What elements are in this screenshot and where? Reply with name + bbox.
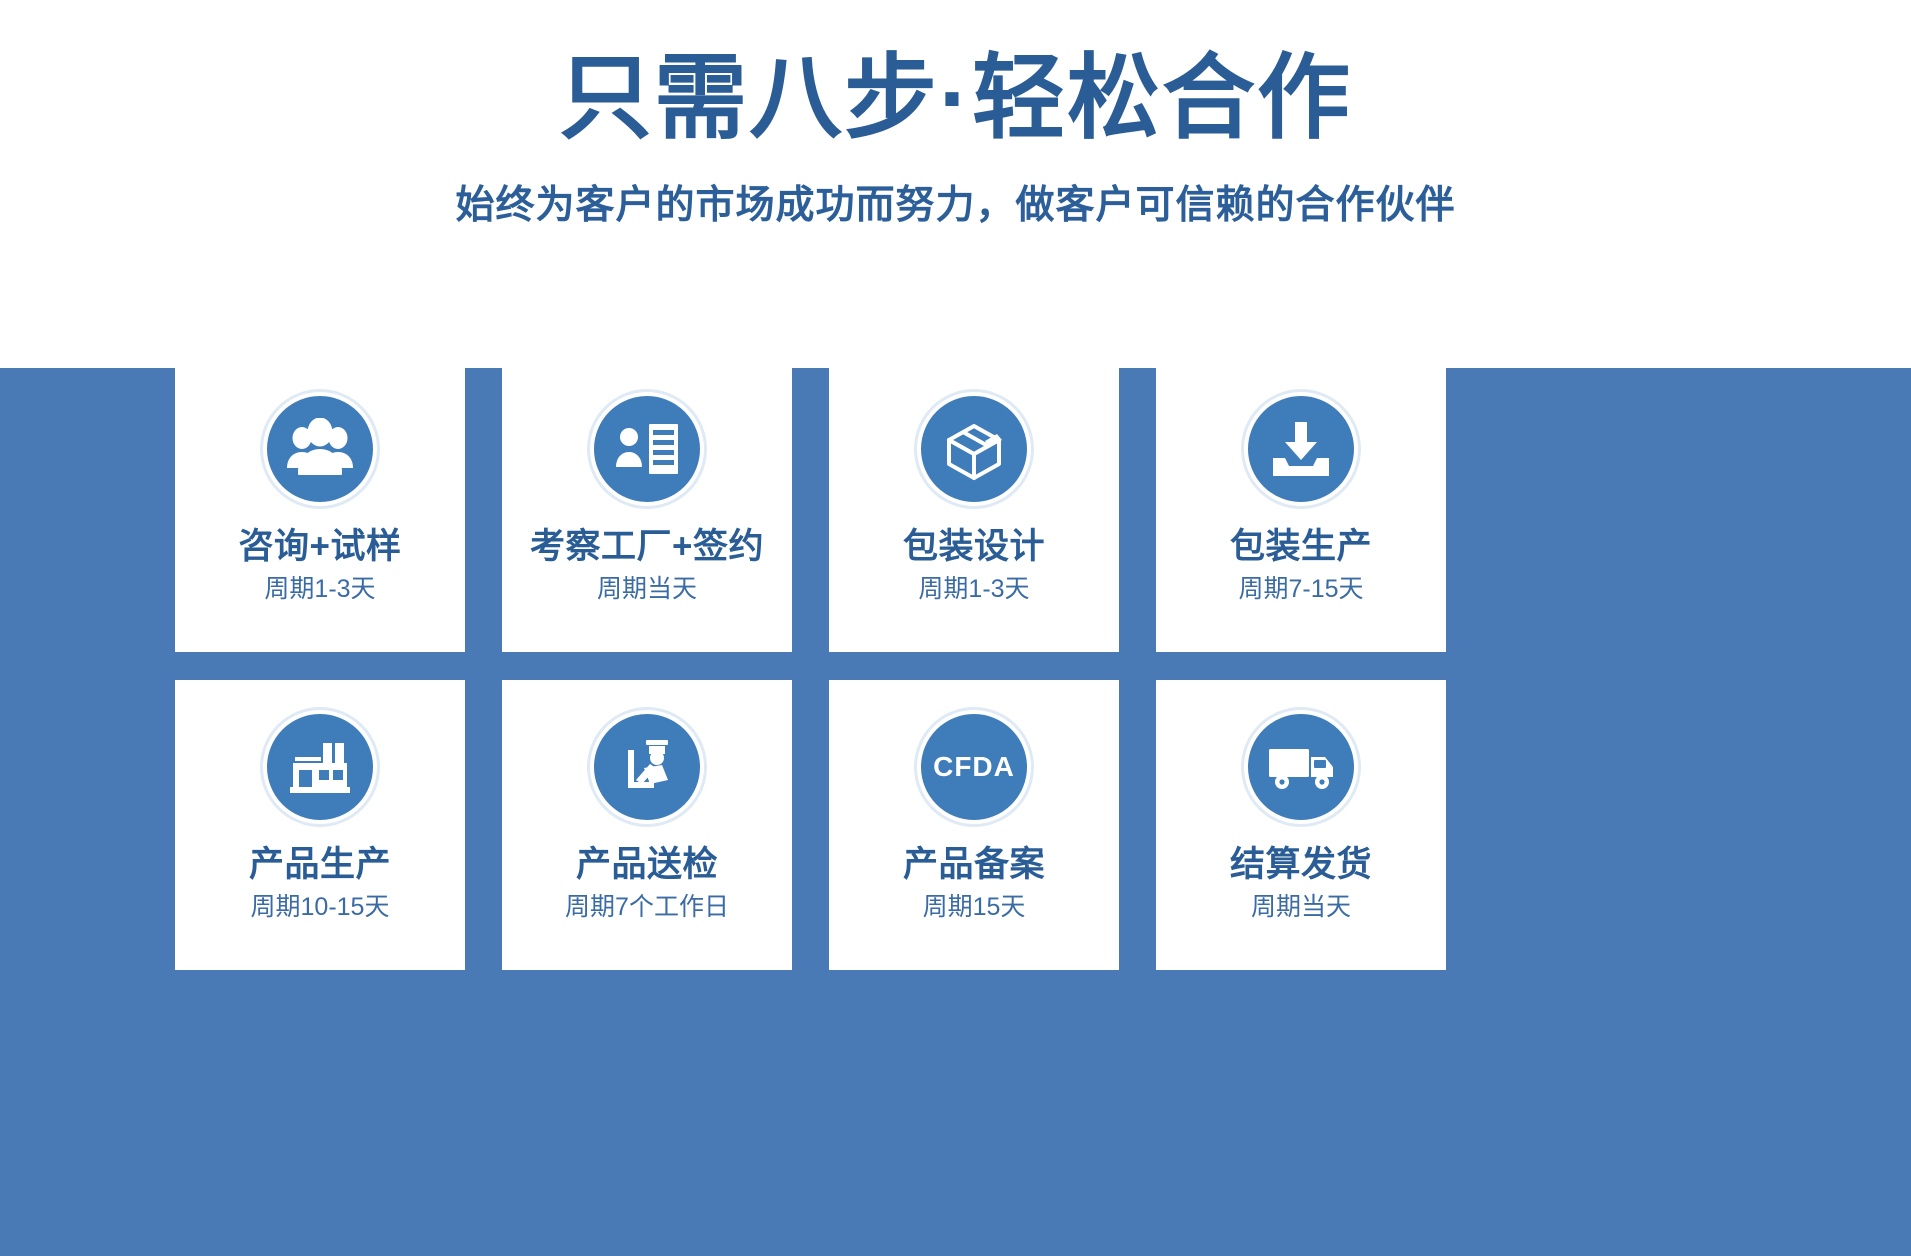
step-duration-2: 周期当天: [597, 576, 697, 604]
step-duration-8: 周期当天: [1251, 894, 1351, 922]
step-title-6: 产品送检: [576, 846, 718, 885]
step-title-4: 包装生产: [1230, 528, 1372, 567]
step-title-1: 咨询+试样: [239, 528, 402, 567]
inspector-icon: [590, 710, 704, 824]
delivery-truck-icon: [1244, 710, 1358, 824]
step-title-7: 产品备案: [903, 846, 1045, 885]
factory-icon: [263, 710, 377, 824]
step-card-3[interactable]: 包装设计 周期1-3天: [829, 362, 1119, 652]
steps-grid: 咨询+试样 周期1-3天: [175, 362, 1747, 970]
step-icon-wrap-4: [1242, 390, 1360, 508]
step-duration-1: 周期1-3天: [264, 576, 375, 604]
step-title-8: 结算发货: [1230, 846, 1372, 885]
users-group-icon: [263, 392, 377, 506]
step-card-2[interactable]: 考察工厂+签约 周期当天: [502, 362, 792, 652]
step-icon-wrap-6: [588, 708, 706, 826]
step-duration-5: 周期10-15天: [251, 894, 390, 922]
download-tray-icon: [1244, 392, 1358, 506]
page-root: 只需八步·轻松合作 始终为客户的市场成功而努力，做客户可信赖的合作伙伴: [0, 0, 1911, 1256]
cfda-icon: CFDA: [917, 710, 1031, 824]
step-card-6[interactable]: 产品送检 周期7个工作日: [502, 680, 792, 970]
step-icon-wrap-8: [1242, 708, 1360, 826]
page-title: 只需八步·轻松合作: [559, 48, 1352, 148]
open-box-icon: [917, 392, 1031, 506]
step-card-7[interactable]: CFDA 产品备案 周期15天: [829, 680, 1119, 970]
step-icon-wrap-7: CFDA: [915, 708, 1033, 826]
step-duration-7: 周期15天: [923, 894, 1026, 922]
step-icon-wrap-5: [261, 708, 379, 826]
page-subtitle: 始终为客户的市场成功而努力，做客户可信赖的合作伙伴: [455, 174, 1455, 230]
cfda-label: CFDA: [933, 751, 1015, 783]
step-title-5: 产品生产: [249, 846, 391, 885]
steps-panel: 咨询+试样 周期1-3天: [0, 368, 1911, 1256]
step-icon-wrap-3: [915, 390, 1033, 508]
step-duration-3: 周期1-3天: [918, 576, 1029, 604]
step-title-2: 考察工厂+签约: [530, 528, 764, 567]
step-duration-6: 周期7个工作日: [565, 894, 729, 922]
step-card-1[interactable]: 咨询+试样 周期1-3天: [175, 362, 465, 652]
step-card-8[interactable]: 结算发货 周期当天: [1156, 680, 1446, 970]
step-title-3: 包装设计: [903, 528, 1045, 567]
page-header: 只需八步·轻松合作 始终为客户的市场成功而努力，做客户可信赖的合作伙伴: [0, 0, 1911, 368]
step-duration-4: 周期7-15天: [1238, 576, 1363, 604]
step-card-5[interactable]: 产品生产 周期10-15天: [175, 680, 465, 970]
step-card-4[interactable]: 包装生产 周期7-15天: [1156, 362, 1446, 652]
step-icon-wrap-1: [261, 390, 379, 508]
id-card-icon: [590, 392, 704, 506]
step-icon-wrap-2: [588, 390, 706, 508]
